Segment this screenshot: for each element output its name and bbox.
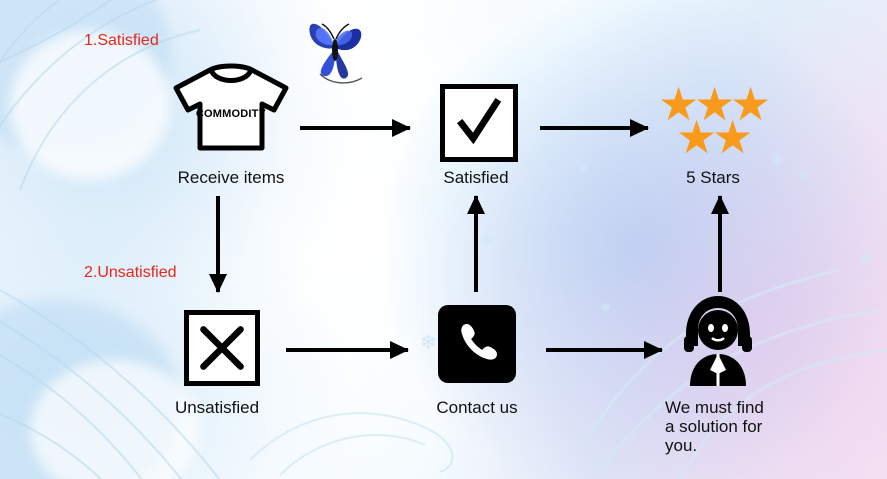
arrow-receive-to-satisfied: [300, 126, 410, 130]
note-unsatisfied: 2.Unsatisfied: [84, 264, 177, 282]
snowflake-icon: ❄: [600, 300, 611, 316]
snowflake-icon: ❄: [578, 160, 590, 177]
arrow-unsatisfied-to-contact: [286, 348, 408, 352]
label-satisfied: Satisfied: [404, 168, 548, 188]
flower-blob-decoration: [10, 30, 170, 180]
flower-blob-decoration: [0, 300, 180, 479]
checkmark-box-icon: [440, 84, 518, 162]
label-unsatisfied: Unsatisfied: [147, 398, 287, 418]
snowflake-icon: ❄: [860, 250, 873, 268]
flower-blob-decoration: [30, 360, 200, 479]
arrow-satisfied-to-stars: [540, 126, 648, 130]
telephone-icon: [438, 305, 516, 383]
butterfly-icon: [300, 12, 378, 90]
support-agent-icon: [668, 290, 768, 390]
snowflake-icon: ❄: [800, 170, 810, 184]
label-five-stars: 5 Stars: [643, 168, 783, 188]
arrow-contact-to-solution: [546, 348, 662, 352]
stars-icon: ★ ★ ★ ★ ★: [658, 84, 768, 160]
snowflake-icon: ❄: [420, 330, 437, 355]
label-solution: We must find a solution for you.: [665, 398, 797, 455]
arrow-agent-to-stars: [718, 196, 722, 292]
flower-blob-decoration: [0, 0, 170, 150]
label-contact-us: Contact us: [406, 398, 548, 418]
note-satisfied: 1.Satisfied: [84, 32, 159, 50]
label-receive-items: Receive items: [146, 168, 316, 188]
cross-box-icon: [184, 310, 260, 386]
snowflake-icon: ❄: [540, 140, 558, 166]
snowflake-icon: ❄: [480, 230, 493, 250]
arrow-solution-to-satisfied: [474, 196, 478, 292]
diagram-canvas: ❄ ❄ ❄ ❄ ❄ ❄ ❄ ❄ 1.Satisfied 2.Unsatisfie…: [0, 0, 887, 479]
commodity-badge: COMMODITY: [190, 108, 272, 120]
arrow-receive-to-unsatisfied: [216, 196, 220, 292]
